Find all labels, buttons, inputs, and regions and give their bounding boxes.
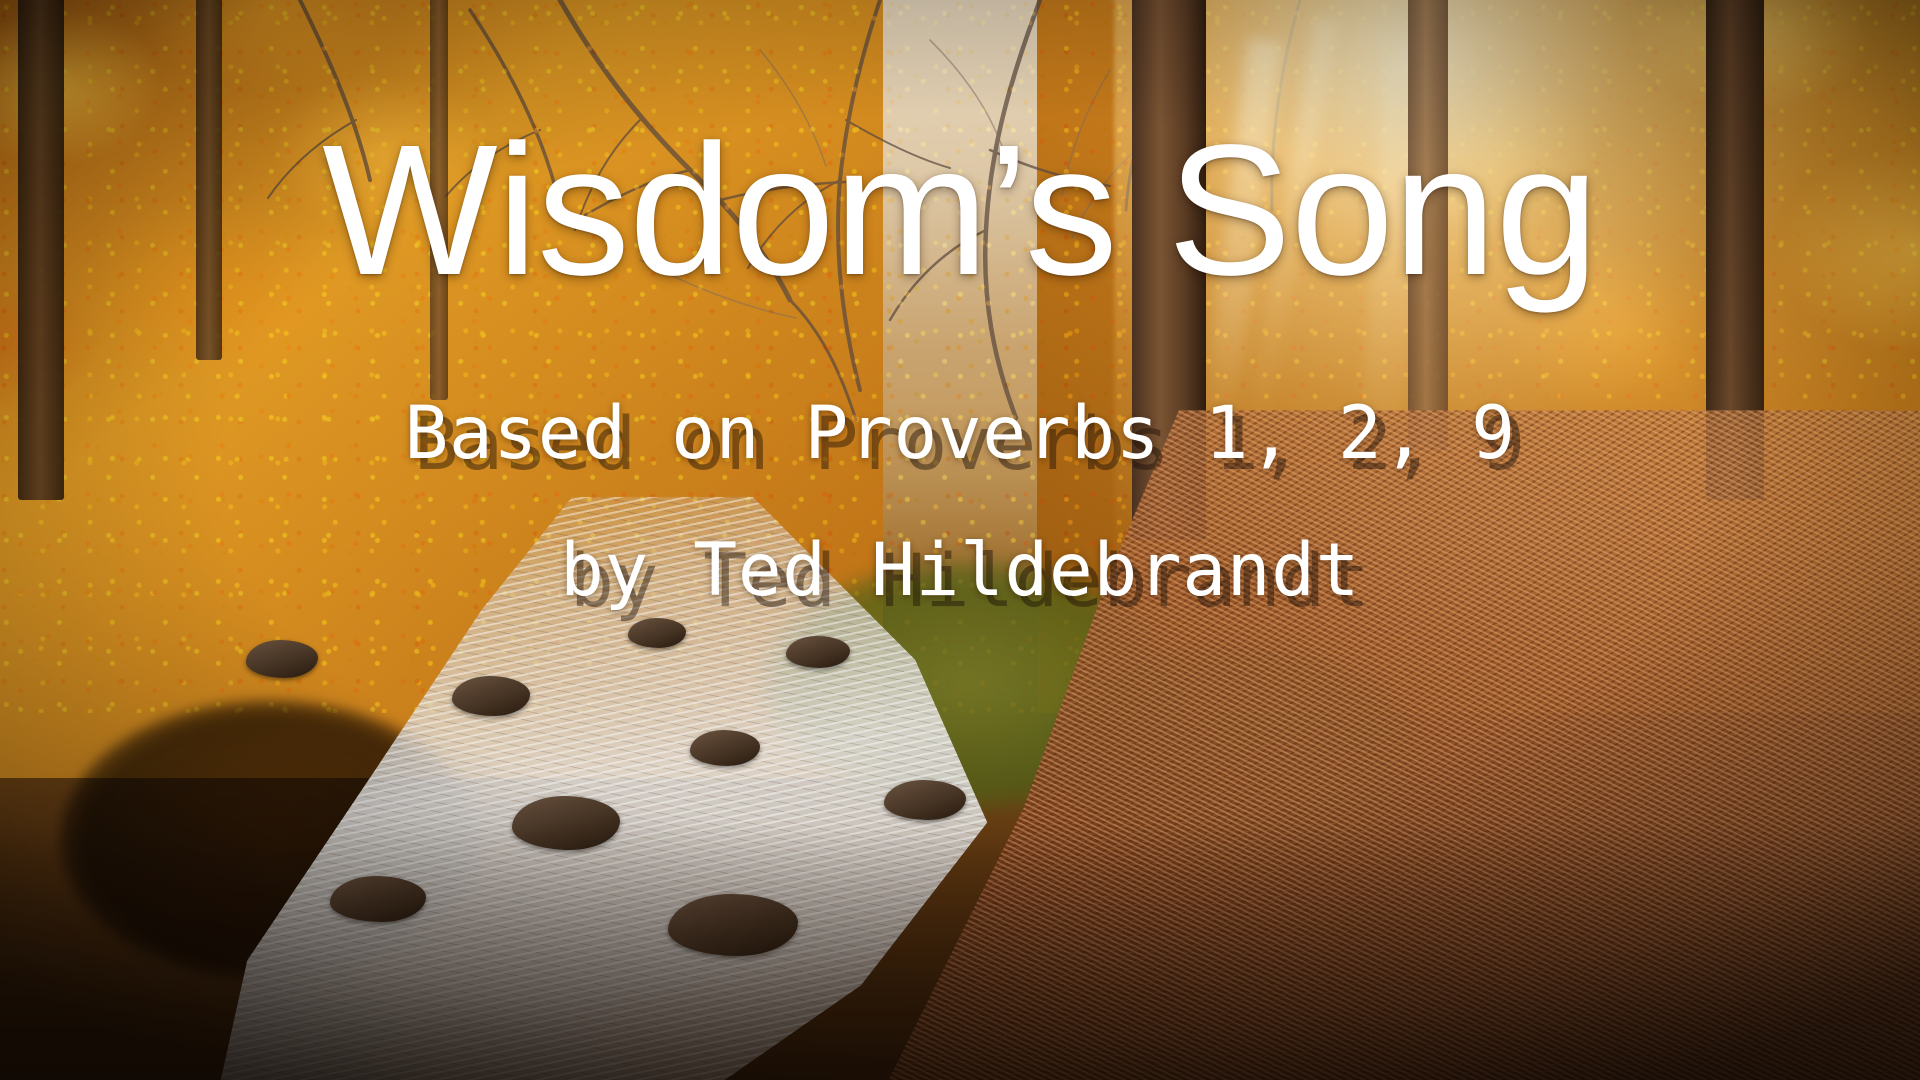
slide-subtitle-text: Based on Proverbs 1, 2, 9 [404,396,1515,473]
text-overlay: Wisdom’s Song Based on Proverbs 1, 2, 9 … [0,0,1920,1080]
slide-subtitle: Based on Proverbs 1, 2, 9 Based on Prove… [404,396,1515,473]
slide-byline: by Ted Hildebrandt by Ted Hildebrandt [560,533,1360,610]
slide-title: Wisdom’s Song [322,118,1598,304]
slide-byline-text: by Ted Hildebrandt [560,533,1360,610]
title-slide: Wisdom’s Song Based on Proverbs 1, 2, 9 … [0,0,1920,1080]
